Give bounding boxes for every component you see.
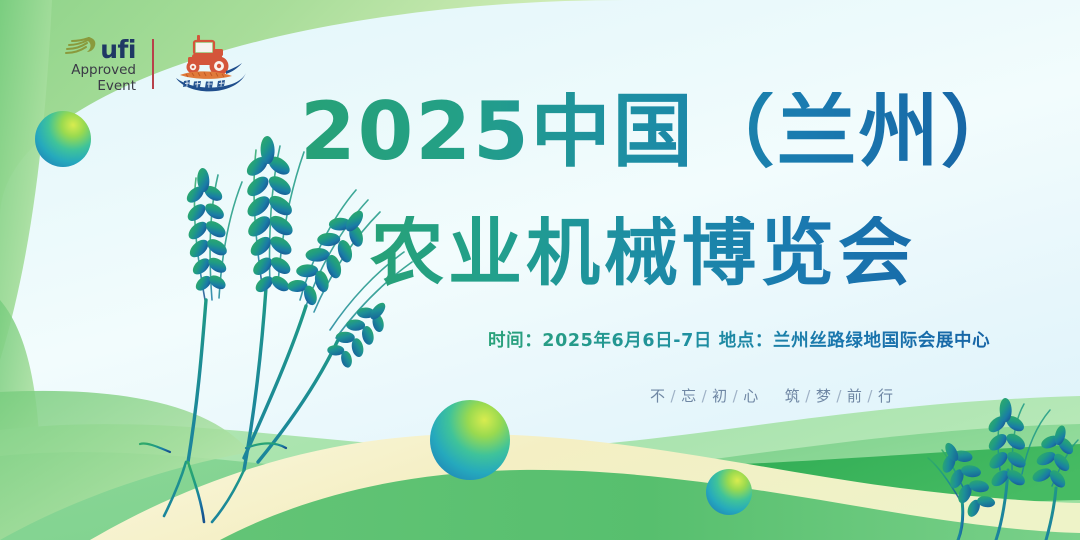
ufi-event-label: Event bbox=[97, 79, 136, 94]
ufi-swoosh-icon bbox=[64, 35, 98, 62]
logo-divider bbox=[152, 39, 154, 89]
slogan-sep-2: / bbox=[701, 387, 713, 405]
slogan-line: 不/忘/初/心筑/梦/前/行 bbox=[650, 385, 898, 406]
slogan-sep-3: / bbox=[732, 387, 744, 405]
slogan-sep-4: / bbox=[804, 387, 816, 405]
title-line-2-wrap: 农业机械博览会 bbox=[370, 216, 990, 304]
slogan-char-3: 初 bbox=[712, 387, 732, 405]
title-line-1-wrap: 2025中国（兰州） bbox=[300, 92, 1000, 188]
ufi-wordmark: ufi bbox=[100, 39, 136, 62]
slogan-sep-1: / bbox=[670, 387, 682, 405]
slogan-char-2: 忘 bbox=[681, 387, 701, 405]
slogan-sep-5: / bbox=[835, 387, 847, 405]
slogan-char-1: 不 bbox=[650, 387, 670, 405]
tractor-emblem-icon bbox=[168, 33, 248, 95]
poster-canvas: ufi Approved Event bbox=[0, 0, 1080, 540]
ufi-approved-event-logo: ufi Approved Event bbox=[52, 35, 136, 93]
event-details-line: 时间：2025年6月6日-7日 地点：兰州丝路绿地国际会展中心 bbox=[488, 327, 990, 352]
slogan-char-8: 行 bbox=[878, 387, 898, 405]
ufi-approved-label: Approved bbox=[71, 63, 136, 78]
slogan-char-6: 梦 bbox=[816, 387, 836, 405]
logo-row: ufi Approved Event bbox=[52, 33, 248, 95]
page-title-line-2: 农业机械博览会 bbox=[370, 216, 990, 290]
page-title-line-1: 2025中国（兰州） bbox=[300, 92, 1000, 172]
slogan-sep-6: / bbox=[866, 387, 878, 405]
slogan-char-5: 筑 bbox=[785, 387, 805, 405]
slogan-char-4: 心 bbox=[743, 387, 763, 405]
slogan-char-7: 前 bbox=[847, 387, 867, 405]
